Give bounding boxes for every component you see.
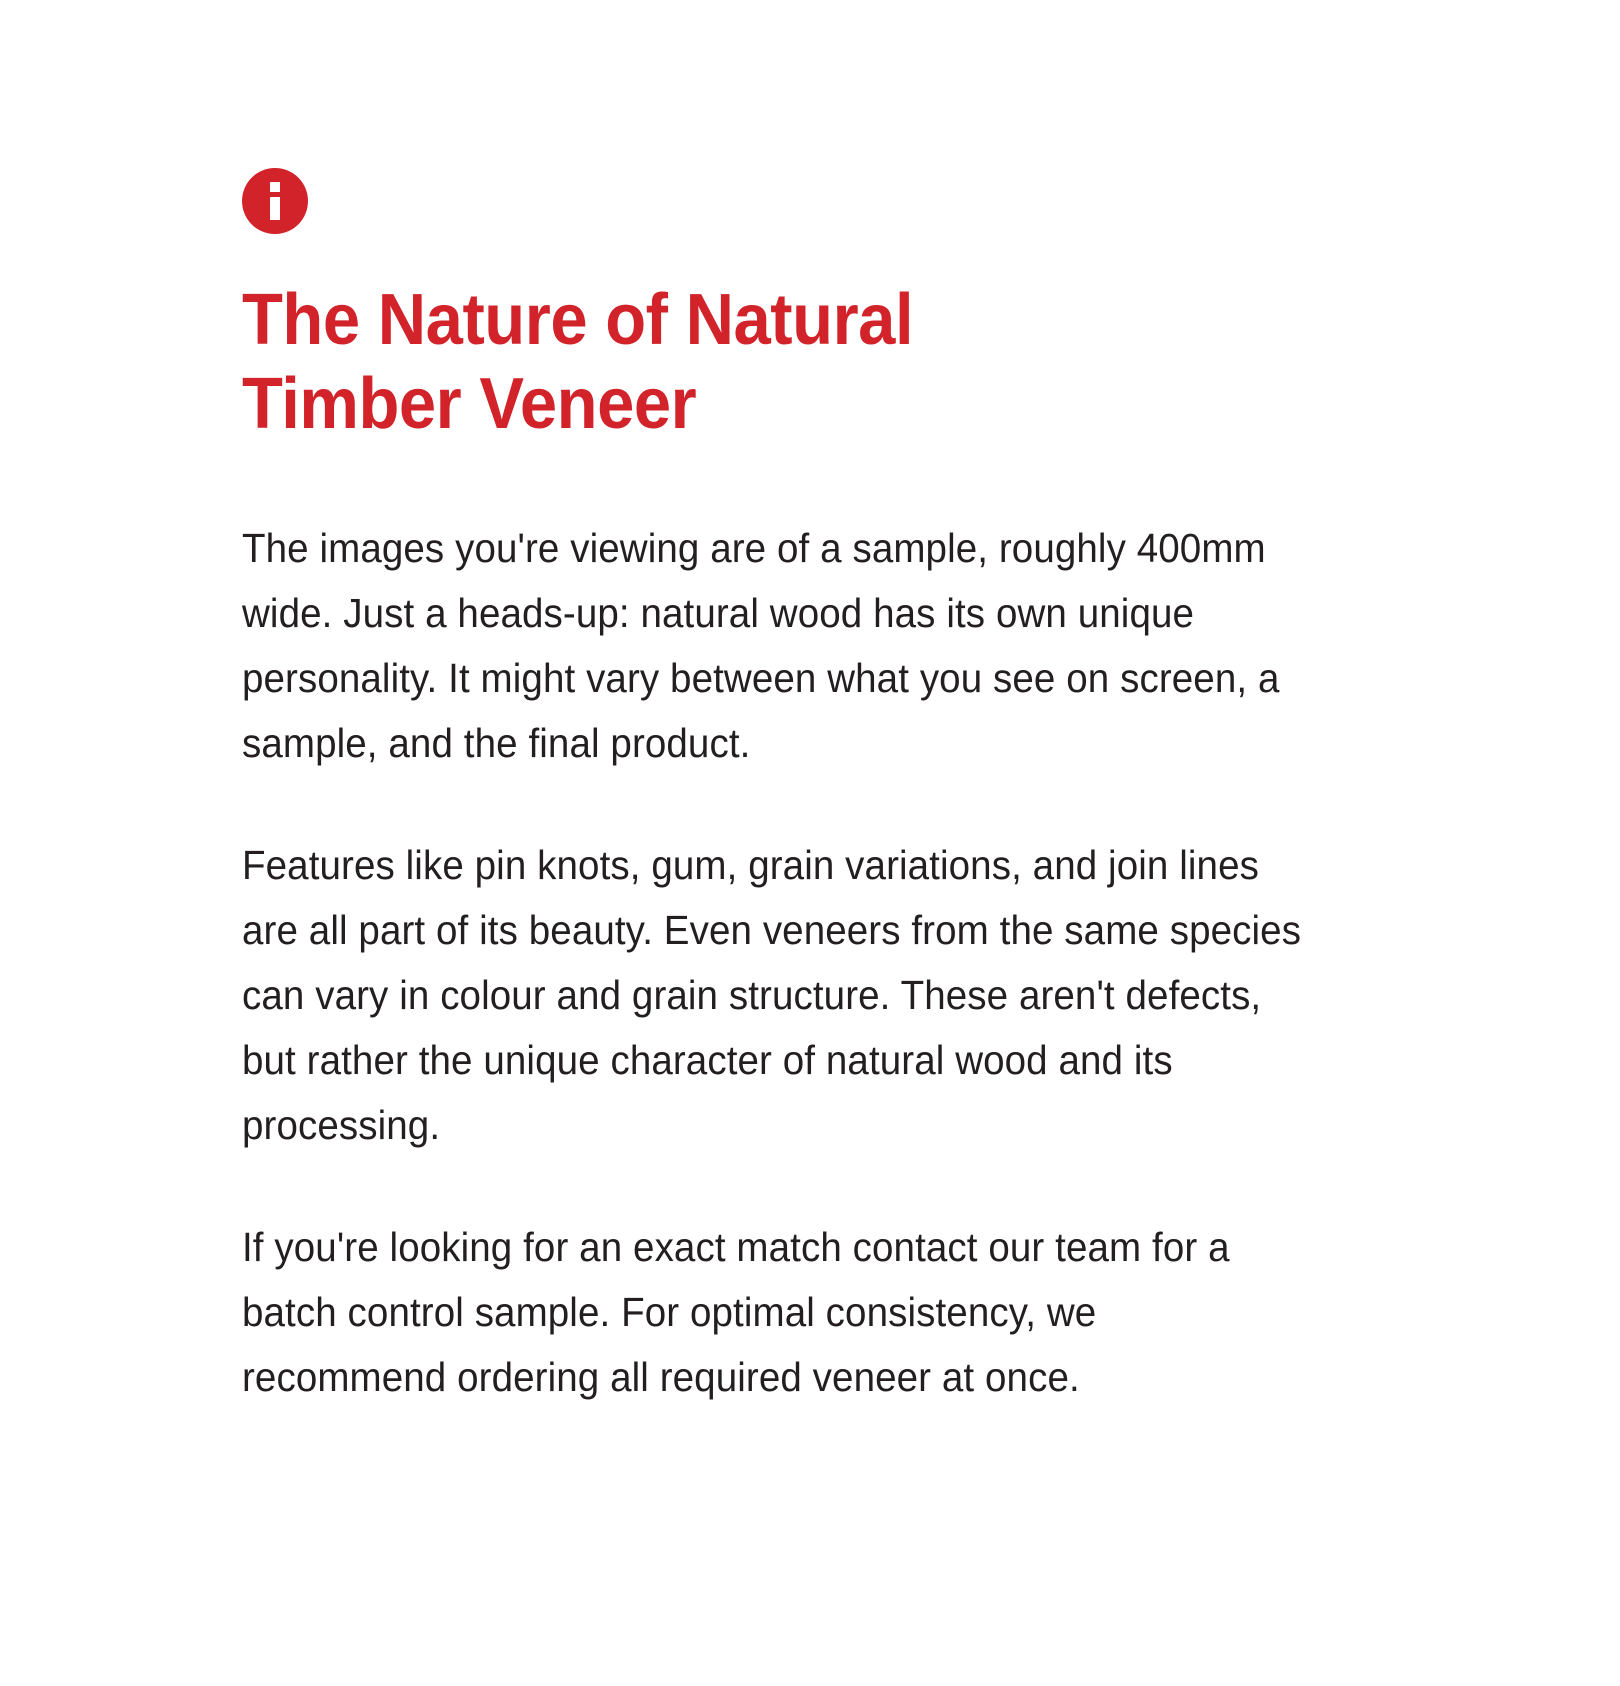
body-paragraph-3: If you're looking for an exact match con… [242, 1215, 1302, 1410]
page-title: The Nature of Natural Timber Veneer [242, 278, 1228, 446]
info-panel: The Nature of Natural Timber Veneer The … [0, 0, 1620, 1686]
body-paragraph-2: Features like pin knots, gum, grain vari… [242, 833, 1302, 1158]
info-icon [242, 168, 308, 234]
info-panel-content: The Nature of Natural Timber Veneer The … [242, 168, 1302, 1410]
body-paragraph-1: The images you're viewing are of a sampl… [242, 516, 1302, 776]
